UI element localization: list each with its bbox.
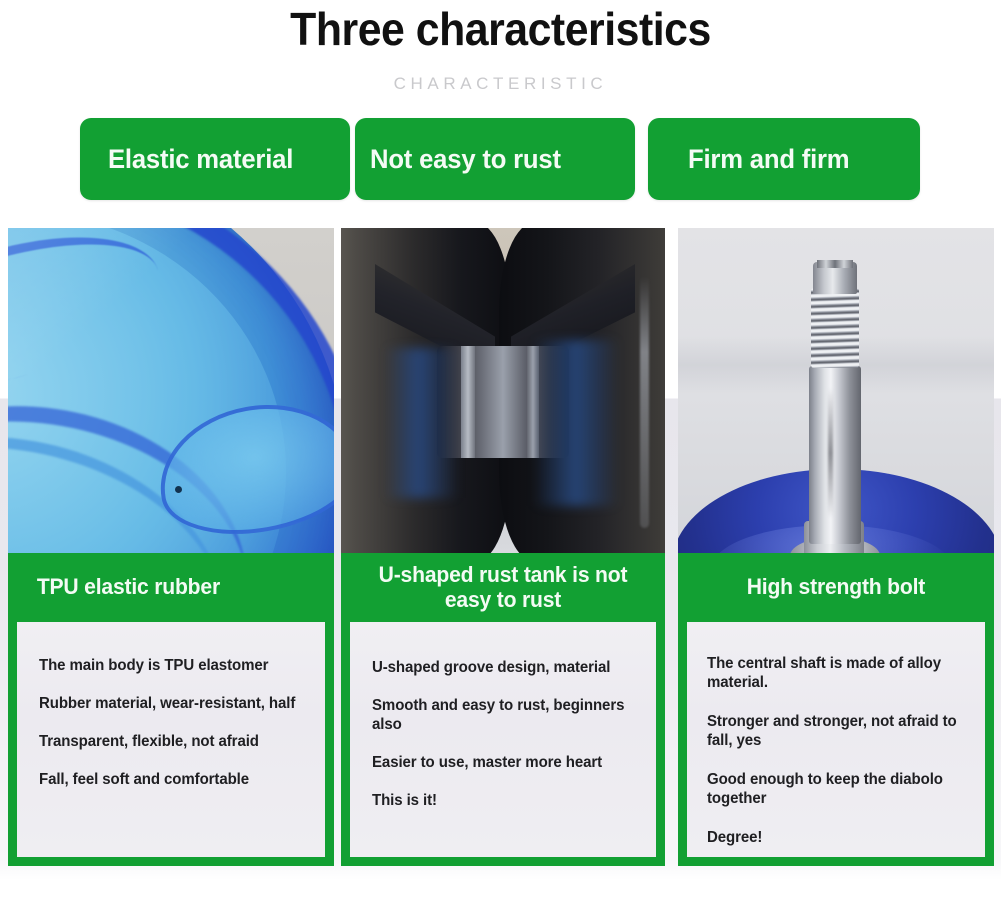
bolt-threads — [811, 288, 859, 368]
list-item: Smooth and easy to rust, beginners also — [372, 696, 632, 734]
hub-band-left — [461, 346, 475, 458]
card-title-bar: U-shaped rust tank is not easy to rust — [344, 556, 662, 617]
card-title: U-shaped rust tank is not easy to rust — [360, 562, 646, 612]
blue-sheen-right — [533, 340, 619, 506]
feature-card: U-shaped rust tank is not easy to rust U… — [341, 228, 665, 866]
card-bullet-list: The main body is TPU elastomer Rubber ma… — [15, 620, 327, 859]
rim-highlight — [640, 276, 649, 528]
card-title: TPU elastic rubber — [37, 574, 220, 599]
feature-card: High strength bolt The central shaft is … — [678, 228, 994, 866]
card-text-panel: High strength bolt The central shaft is … — [678, 553, 994, 866]
list-item: Good enough to keep the diabolo together — [707, 770, 961, 808]
bolt-tip-notch — [817, 260, 853, 268]
high-strength-bolt-photo — [678, 228, 994, 553]
card-bullet-list: U-shaped groove design, material Smooth … — [348, 620, 658, 859]
list-item: U-shaped groove design, material — [372, 658, 632, 677]
bolt-shaft-marking — [828, 388, 833, 518]
card-title-bar: High strength bolt — [681, 556, 991, 617]
feature-card: TPU elastic rubber The main body is TPU … — [8, 228, 334, 866]
list-item: The main body is TPU elastomer — [39, 656, 301, 675]
card-title-bar: TPU elastic rubber — [11, 556, 331, 617]
list-item: Transparent, flexible, not afraid — [39, 732, 301, 751]
card-text-panel: TPU elastic rubber The main body is TPU … — [8, 553, 334, 866]
list-item: Stronger and stronger, not afraid to fal… — [707, 712, 961, 750]
list-item: Degree! — [707, 828, 961, 847]
bolt-shaft — [809, 366, 861, 544]
list-item: Fall, feel soft and comfortable — [39, 770, 301, 789]
u-shaped-groove-photo — [341, 228, 665, 553]
card-bullet-list: The central shaft is made of alloy mater… — [685, 620, 987, 859]
feature-card-row: TPU elastic rubber The main body is TPU … — [0, 0, 1001, 909]
blue-tpu-wheel-photo — [8, 228, 334, 553]
list-item: Rubber material, wear-resistant, half — [39, 694, 301, 713]
list-item: This is it! — [372, 791, 632, 810]
wheel-petal-dot — [175, 486, 182, 493]
list-item: Easier to use, master more heart — [372, 753, 632, 772]
card-title: High strength bolt — [747, 574, 925, 599]
blue-sheen-left — [385, 348, 459, 498]
list-item: The central shaft is made of alloy mater… — [707, 654, 961, 692]
card-text-panel: U-shaped rust tank is not easy to rust U… — [341, 553, 665, 866]
